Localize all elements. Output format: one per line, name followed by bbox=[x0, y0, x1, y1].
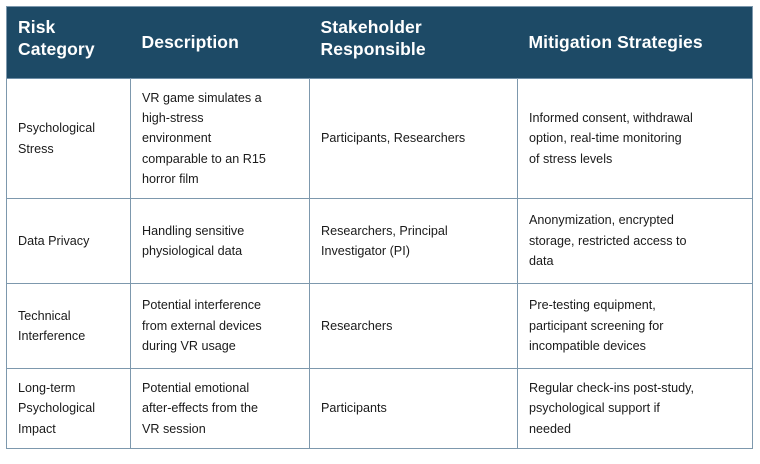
cell-description-text: Potential emotional after-effects from t… bbox=[142, 378, 299, 439]
column-header-stakeholder-responsible: Stakeholder Responsible bbox=[310, 7, 518, 79]
table-row: Long-term Psychological Impact Potential… bbox=[7, 369, 753, 449]
cell-description: Potential interference from external dev… bbox=[131, 284, 310, 369]
cell-mitigation: Pre-testing equipment, participant scree… bbox=[518, 284, 753, 369]
cell-stakeholder-text: Participants bbox=[321, 398, 507, 418]
cell-description: VR game simulates a high-stress environm… bbox=[131, 79, 310, 199]
cell-mitigation-text: Anonymization, encrypted storage, restri… bbox=[529, 210, 742, 271]
cell-stakeholder-text: Participants, Researchers bbox=[321, 128, 507, 148]
cell-stakeholder: Researchers, Principal Investigator (PI) bbox=[310, 199, 518, 284]
cell-risk-category-text: Psychological Stress bbox=[18, 118, 120, 159]
cell-risk-category: Psychological Stress bbox=[7, 79, 131, 199]
cell-mitigation: Informed consent, withdrawal option, rea… bbox=[518, 79, 753, 199]
table-header: Risk Category Description Stakeholder Re… bbox=[7, 7, 753, 79]
cell-stakeholder-text: Researchers, Principal Investigator (PI) bbox=[321, 221, 507, 262]
cell-mitigation-text: Informed consent, withdrawal option, rea… bbox=[529, 108, 742, 169]
cell-mitigation: Anonymization, encrypted storage, restri… bbox=[518, 199, 753, 284]
cell-stakeholder: Participants, Researchers bbox=[310, 79, 518, 199]
cell-risk-category-text: Data Privacy bbox=[18, 231, 120, 251]
cell-stakeholder-text: Researchers bbox=[321, 316, 507, 336]
column-header-risk-category-label: Risk Category bbox=[18, 17, 120, 60]
table-body: Psychological Stress VR game simulates a… bbox=[7, 79, 753, 449]
table-row: Psychological Stress VR game simulates a… bbox=[7, 79, 753, 199]
column-header-description: Description bbox=[131, 7, 310, 79]
cell-description: Handling sensitive physiological data bbox=[131, 199, 310, 284]
cell-risk-category-text: Technical Interference bbox=[18, 306, 120, 347]
table-row: Technical Interference Potential interfe… bbox=[7, 284, 753, 369]
column-header-risk-category: Risk Category bbox=[7, 7, 131, 79]
risk-assessment-table: Risk Category Description Stakeholder Re… bbox=[6, 6, 753, 449]
column-header-mitigation-strategies: Mitigation Strategies bbox=[518, 7, 753, 79]
cell-description-text: Potential interference from external dev… bbox=[142, 295, 299, 356]
cell-mitigation-text: Regular check-ins post-study, psychologi… bbox=[529, 378, 742, 439]
cell-description-text: VR game simulates a high-stress environm… bbox=[142, 88, 299, 190]
column-header-mitigation-strategies-label: Mitigation Strategies bbox=[529, 32, 742, 54]
cell-description: Potential emotional after-effects from t… bbox=[131, 369, 310, 449]
cell-risk-category: Data Privacy bbox=[7, 199, 131, 284]
cell-risk-category: Long-term Psychological Impact bbox=[7, 369, 131, 449]
cell-mitigation: Regular check-ins post-study, psychologi… bbox=[518, 369, 753, 449]
table-row: Data Privacy Handling sensitive physiolo… bbox=[7, 199, 753, 284]
cell-description-text: Handling sensitive physiological data bbox=[142, 221, 299, 262]
page-root: Risk Category Description Stakeholder Re… bbox=[0, 0, 760, 464]
cell-risk-category: Technical Interference bbox=[7, 284, 131, 369]
cell-stakeholder: Researchers bbox=[310, 284, 518, 369]
column-header-stakeholder-responsible-label: Stakeholder Responsible bbox=[321, 17, 507, 60]
column-header-description-label: Description bbox=[142, 32, 299, 54]
table-header-row: Risk Category Description Stakeholder Re… bbox=[7, 7, 753, 79]
cell-stakeholder: Participants bbox=[310, 369, 518, 449]
cell-mitigation-text: Pre-testing equipment, participant scree… bbox=[529, 295, 742, 356]
cell-risk-category-text: Long-term Psychological Impact bbox=[18, 378, 120, 439]
